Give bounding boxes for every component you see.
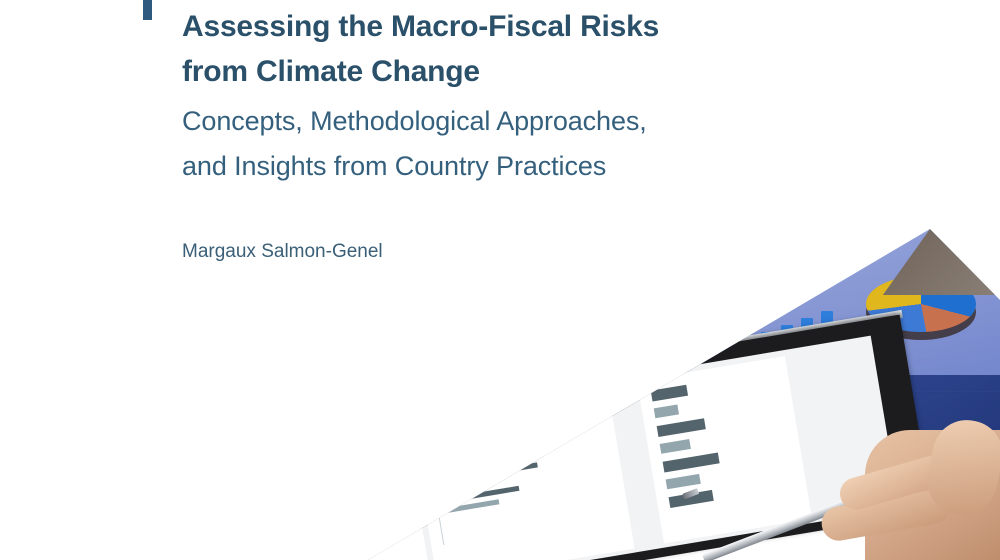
tablet-report-panel-left: [197, 420, 431, 560]
page-title: Assessing the Macro-Fiscal Risks from Cl…: [182, 4, 822, 94]
tablet-report-panel-middle: [410, 386, 634, 560]
document-cover: 1234567891011: [0, 0, 1000, 560]
cover-text-block: Assessing the Macro-Fiscal Risks from Cl…: [182, 4, 822, 265]
subtitle-line-2: and Insights from Country Practices: [182, 144, 822, 189]
title-line-2: from Climate Change: [182, 49, 822, 94]
title-line-1: Assessing the Macro-Fiscal Risks: [182, 4, 822, 49]
author-name: Margaux Salmon-Genel: [182, 239, 822, 265]
bar-chart-bar: [661, 360, 673, 376]
subtitle-line-1: Concepts, Methodological Approaches,: [182, 99, 822, 144]
tablet-device: [150, 315, 933, 560]
accent-bar: [143, 0, 152, 20]
tablet-report-panel-right: [637, 356, 812, 543]
page-subtitle: Concepts, Methodological Approaches, and…: [182, 99, 822, 189]
